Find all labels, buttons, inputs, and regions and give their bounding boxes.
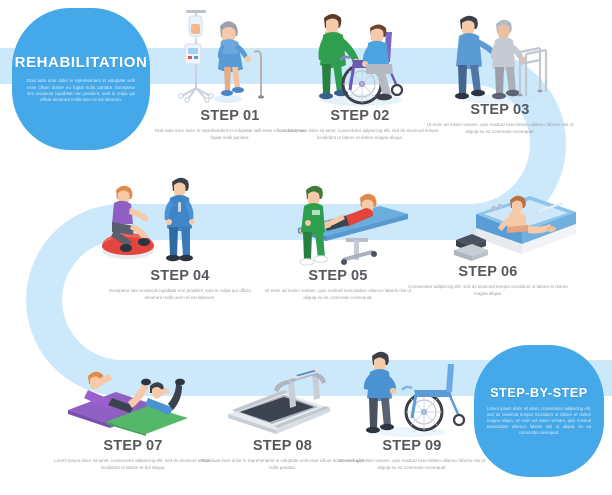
- step-05: STEP 05 Ut enim ad minim veniam, quis no…: [258, 268, 418, 302]
- step-02-body: Lorem ipsum dolor sit amet, consectetur …: [280, 128, 440, 142]
- step-02: STEP 02 Lorem ipsum dolor sit amet, cons…: [280, 108, 440, 142]
- step-09-body: Ut enim ad minim veniam, quis nostrud ex…: [336, 458, 488, 472]
- illustration-step-02: [300, 2, 422, 110]
- step-06-body: Consectetur adipiscing elit, sed do eius…: [408, 284, 568, 298]
- step-by-step-card: STEP-BY-STEP Lorem ipsum dolor sit amet,…: [474, 345, 604, 477]
- elderly-patient-figure: [214, 21, 251, 103]
- step-04: STEP 04 Excepteur sint occaecat cupidata…: [100, 268, 260, 302]
- step-03: STEP 03 Ut enim ad minim veniam, quis no…: [420, 102, 580, 136]
- therapist-green-figure: [300, 186, 328, 265]
- illustration-step-07: [62, 348, 198, 434]
- step-06: STEP 06 Consectetur adipiscing elit, sed…: [408, 264, 568, 298]
- step-03-title: STEP 03: [420, 102, 580, 118]
- illustration-step-06: [452, 182, 582, 268]
- treadmill-icon: [228, 368, 330, 434]
- hero-body: Duis aute irure dolor in reprehenderit i…: [27, 78, 135, 104]
- step-04-body: Excepteur sint occaecat cupidatat non pr…: [100, 288, 260, 302]
- therapist-blue-figure: [165, 178, 195, 261]
- step-05-body: Ut enim ad minim veniam, quis nostrud ex…: [258, 288, 418, 302]
- step-06-title: STEP 06: [408, 264, 568, 280]
- step-05-title: STEP 05: [258, 268, 418, 284]
- outro-body: Lorem ipsum dolor sit amet, consectetur …: [487, 406, 591, 436]
- iv-stand-icon: [179, 10, 213, 102]
- step-09-title: STEP 09: [336, 438, 488, 454]
- illustration-step-09: [352, 346, 470, 438]
- step-07-body: Lorem ipsum dolor sit amet, consectetur …: [48, 458, 218, 472]
- walker-frame-icon: [520, 48, 546, 96]
- step-07-title: STEP 07: [48, 438, 218, 454]
- standing-man-figure: [364, 352, 396, 433]
- hero-title: REHABILITATION: [15, 54, 148, 71]
- step-02-title: STEP 02: [280, 108, 440, 124]
- step-07: STEP 07 Lorem ipsum dolor sit amet, cons…: [48, 438, 218, 472]
- illustration-step-03: [440, 2, 564, 108]
- walking-cane-icon: [254, 51, 264, 99]
- outro-title: STEP-BY-STEP: [490, 386, 588, 400]
- illustration-step-08: [218, 352, 348, 436]
- illustration-step-01: [168, 4, 290, 108]
- illustration-step-05: [284, 178, 420, 268]
- rehabilitation-hero-card: REHABILITATION Duis aute irure dolor in …: [12, 8, 150, 150]
- step-09: STEP 09 Ut enim ad minim veniam, quis no…: [336, 438, 488, 472]
- step-03-body: Ut enim ad minim veniam, quis nostrud ex…: [420, 122, 580, 136]
- step-04-title: STEP 04: [100, 268, 260, 284]
- infographic-canvas: STEP 01 Duis aute irure dolor in reprehe…: [0, 0, 612, 495]
- empty-wheelchair-icon: [402, 364, 464, 430]
- illustration-step-04: [92, 172, 212, 264]
- nurse-green-figure: [319, 14, 360, 99]
